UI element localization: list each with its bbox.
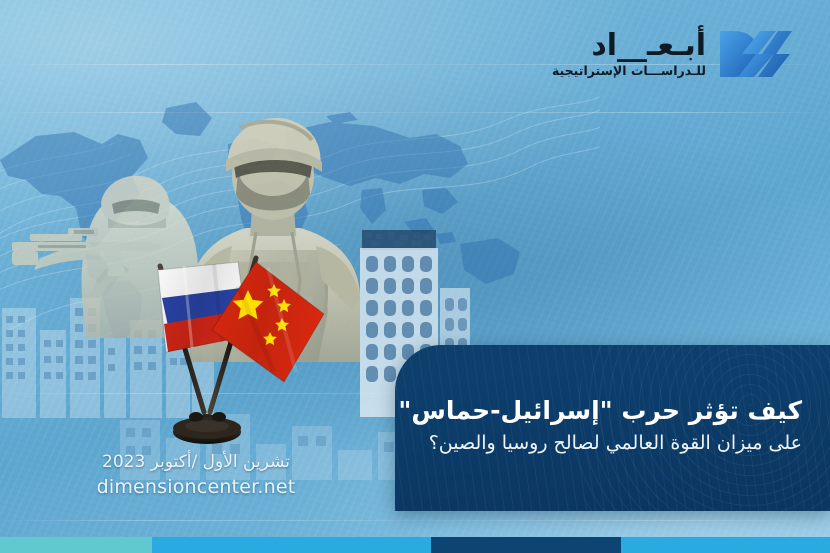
brand-name-ar: أبـعـ__اد	[591, 31, 706, 61]
bottom-color-bar	[0, 537, 830, 553]
bar-segment-navy	[431, 537, 621, 553]
bar-segment-cyan	[621, 537, 830, 553]
brand-logo: أبـعـ__اد للـدراســـات الإستراتيجية	[552, 28, 794, 80]
masked-soldier-photo	[168, 112, 378, 362]
bar-segment-cyan-2	[152, 537, 431, 553]
sniper-soldier-photo	[8, 148, 208, 338]
cover-canvas: أبـعـ__اد للـدراســـات الإستراتيجية كيف …	[0, 0, 830, 553]
publication-meta: تشرين الأول /أكتوبر 2023 dimensioncenter…	[0, 452, 392, 498]
headline-line-2: على ميزان القوة العالمي لصالح روسيا والص…	[413, 430, 802, 457]
bar-segment-teal	[0, 537, 152, 553]
dss-monogram-icon	[718, 28, 794, 80]
publication-date: تشرين الأول /أكتوبر 2023	[0, 452, 392, 472]
paper-crease	[0, 520, 830, 521]
paper-crease	[0, 112, 830, 113]
topographic-contour-lines-icon	[0, 0, 600, 350]
world-map-silhouette-icon	[0, 8, 550, 338]
russia-china-desk-flags-icon	[88, 252, 328, 452]
title-panel: كيف تؤثر حرب "إسرائيل-حماس" على ميزان ال…	[395, 345, 830, 511]
damaged-cityscape-photo	[0, 268, 215, 418]
headline-line-1: كيف تؤثر حرب "إسرائيل-حماس"	[413, 394, 802, 427]
website-url[interactable]: dimensioncenter.net	[0, 476, 392, 498]
brand-tagline-ar: للـدراســـات الإستراتيجية	[552, 65, 706, 78]
